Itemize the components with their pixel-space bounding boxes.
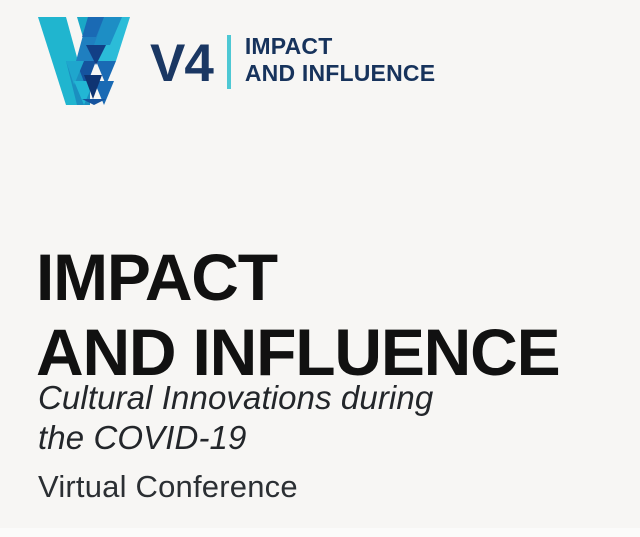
- event-type-label: Virtual Conference: [38, 468, 298, 506]
- brand-tagline-line-2: AND INFLUENCE: [245, 60, 435, 87]
- headline-line-1: IMPACT: [36, 240, 636, 315]
- subtitle-line-1: Cultural Innovations during: [38, 378, 618, 418]
- brand-tagline: IMPACT AND INFLUENCE: [245, 33, 435, 87]
- conference-poster: V4 IMPACT AND INFLUENCE IMPACT AND INFLU…: [0, 0, 640, 537]
- page-title: IMPACT AND INFLUENCE: [36, 240, 636, 390]
- brand-wordmark: V4: [150, 37, 213, 90]
- page-subtitle: Cultural Innovations during the COVID-19: [38, 378, 618, 458]
- bottom-band: [0, 528, 640, 537]
- brand-lockup: V4 IMPACT AND INFLUENCE: [36, 14, 435, 106]
- brand-divider: [227, 35, 231, 89]
- subtitle-line-2: the COVID-19: [38, 418, 618, 458]
- v4-triangular-v-logo-icon: [36, 15, 132, 105]
- brand-tagline-line-1: IMPACT: [245, 33, 435, 60]
